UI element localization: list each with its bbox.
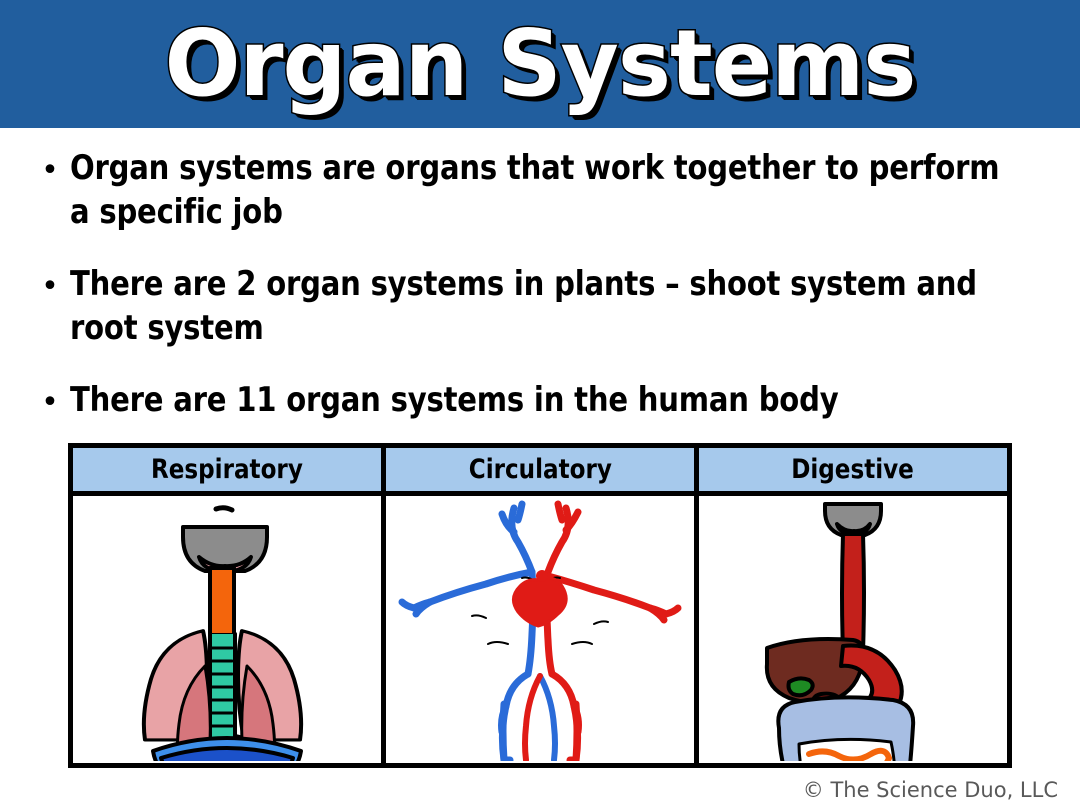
- table-header-row: Respiratory Circulatory Digestive: [73, 448, 1007, 496]
- column-header-label: Respiratory: [151, 454, 303, 485]
- table-header-cell-respiratory: Respiratory: [73, 448, 386, 491]
- table-cell-circulatory: [386, 496, 699, 763]
- bullet-point-icon: •: [30, 262, 70, 312]
- table-cell-respiratory: [73, 496, 386, 763]
- page-title: Organ Systems: [165, 12, 916, 116]
- digestive-system-diagram: [703, 496, 1003, 761]
- respiratory-system-diagram: [77, 496, 377, 761]
- table-cell-digestive: [699, 496, 1007, 763]
- column-header-label: Digestive: [792, 454, 915, 485]
- list-item: • There are 11 organ systems in the huma…: [0, 378, 1080, 428]
- list-item: • There are 2 organ systems in plants – …: [0, 262, 1080, 350]
- bullet-list: • Organ systems are organs that work tog…: [0, 128, 1080, 428]
- copyright-credit: © The Science Duo, LLC: [803, 778, 1058, 802]
- column-header-label: Circulatory: [468, 454, 611, 485]
- organ-systems-table: Respiratory Circulatory Digestive: [68, 443, 1012, 768]
- circulatory-system-diagram: [390, 496, 690, 761]
- table-row: [73, 496, 1007, 763]
- bullet-point-icon: •: [30, 378, 70, 428]
- bullet-text: Organ systems are organs that work toget…: [70, 146, 1001, 234]
- bullet-text: There are 11 organ systems in the human …: [70, 378, 838, 422]
- table-header-cell-circulatory: Circulatory: [386, 448, 699, 491]
- bullet-point-icon: •: [30, 146, 70, 196]
- list-item: • Organ systems are organs that work tog…: [0, 146, 1080, 234]
- bullet-text: There are 2 organ systems in plants – sh…: [70, 262, 1001, 350]
- table-header-cell-digestive: Digestive: [699, 448, 1007, 491]
- title-banner: Organ Systems: [0, 0, 1080, 128]
